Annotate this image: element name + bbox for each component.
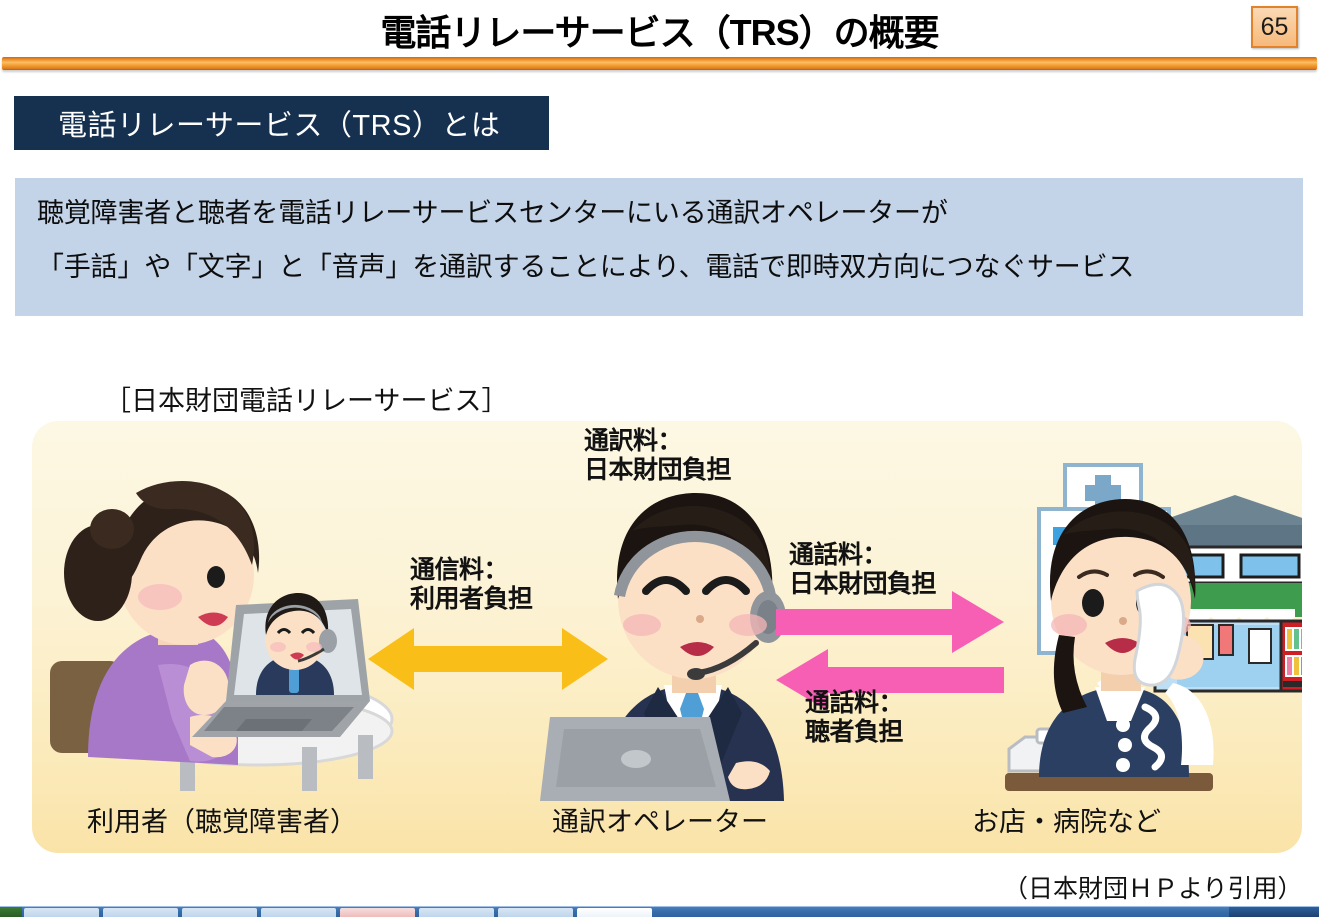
description-line-1: 聴覚障害者と聴者を電話リレーサービスセンターにいる通訳オペレーターが (37, 200, 1303, 227)
caption-operator: 通訳オペレーター (552, 800, 768, 839)
taskbar-item[interactable] (103, 908, 178, 917)
taskbar-spacer (654, 907, 1229, 917)
caption-user: 利用者（聴覚障害者） (87, 800, 357, 839)
taskbar-item[interactable] (261, 908, 336, 917)
system-tray[interactable] (1229, 907, 1319, 917)
label-communication-fee: 通信料： 利用者負担 (410, 556, 533, 613)
label-call-fee-incoming: 通話料： 聴者負担 (805, 689, 903, 746)
call-fee-outgoing-arrow (776, 591, 1004, 653)
taskbar-item[interactable] (182, 908, 257, 917)
label-call-fee-outgoing: 通話料： 日本財団負担 (789, 541, 936, 598)
caption-shop: お店・病院など (972, 800, 1161, 839)
title-divider-rule (2, 57, 1317, 70)
source-note: （日本財団ＨＰより引用） (1003, 869, 1303, 905)
page-title: 電話リレーサービス（TRS）の概要 (0, 4, 1319, 56)
taskbar-item[interactable] (498, 908, 573, 917)
figure-caption: ［日本財団電話リレーサービス］ (104, 379, 508, 418)
illustration-panel: 通訳料： 日本財団負担 通信料： 利用者負担 通話料： 日本財団負担 通話料： … (32, 421, 1302, 853)
windows-taskbar[interactable] (0, 906, 1319, 917)
section-heading: 電話リレーサービス（TRS）とは (14, 96, 549, 150)
taskbar-item[interactable] (340, 908, 415, 917)
communication-fee-arrow (368, 626, 608, 692)
taskbar-item[interactable] (24, 908, 99, 917)
slide-canvas: 電話リレーサービス（TRS）の概要 65 電話リレーサービス（TRS）とは 聴覚… (0, 0, 1319, 917)
user-illustration (40, 469, 420, 799)
label-interpreter-fee: 通訳料： 日本財団負担 (584, 427, 731, 484)
description-line-2: 「手話」や「文字」と「音声」を通訳することにより、電話で即時双方向につなぐサービ… (37, 254, 1303, 281)
start-button[interactable] (0, 907, 22, 917)
page-number-badge: 65 (1251, 6, 1298, 48)
taskbar-item[interactable] (577, 908, 652, 917)
description-box: 聴覚障害者と聴者を電話リレーサービスセンターにいる通訳オペレーターが 「手話」や… (15, 178, 1303, 316)
shop-hospital-illustration (977, 425, 1302, 801)
taskbar-item[interactable] (419, 908, 494, 917)
